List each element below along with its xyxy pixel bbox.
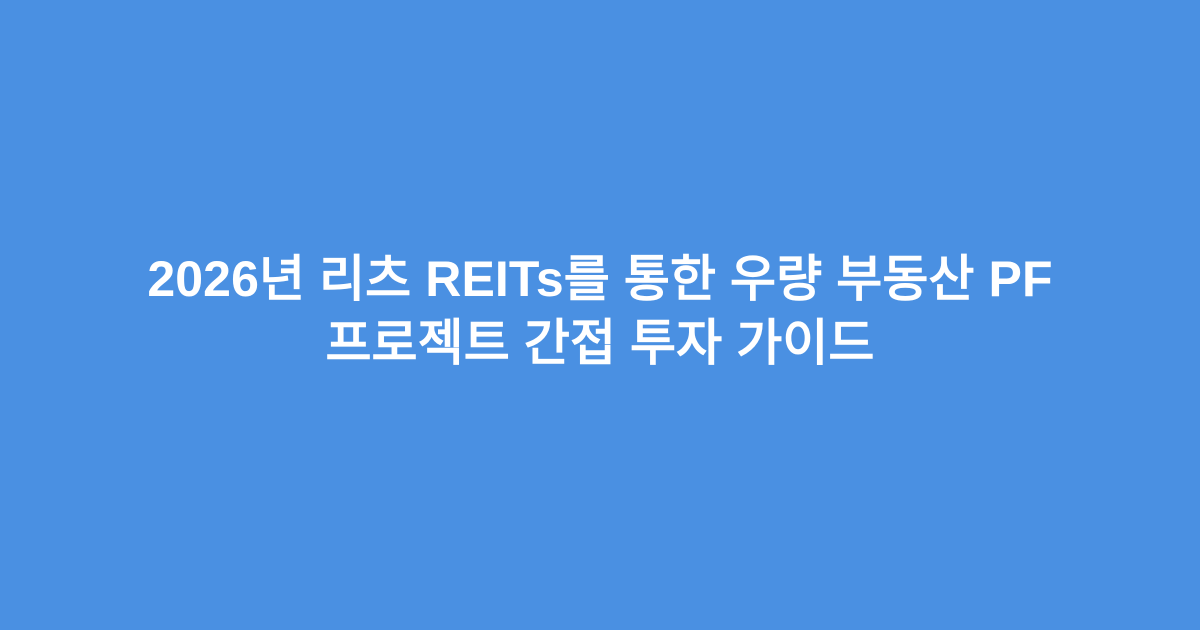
og-card: 2026년 리츠 REITs를 통한 우량 부동산 PF 프로젝트 간접 투자 … [0,0,1200,630]
page-title: 2026년 리츠 REITs를 통한 우량 부동산 PF 프로젝트 간접 투자 … [80,247,1120,383]
